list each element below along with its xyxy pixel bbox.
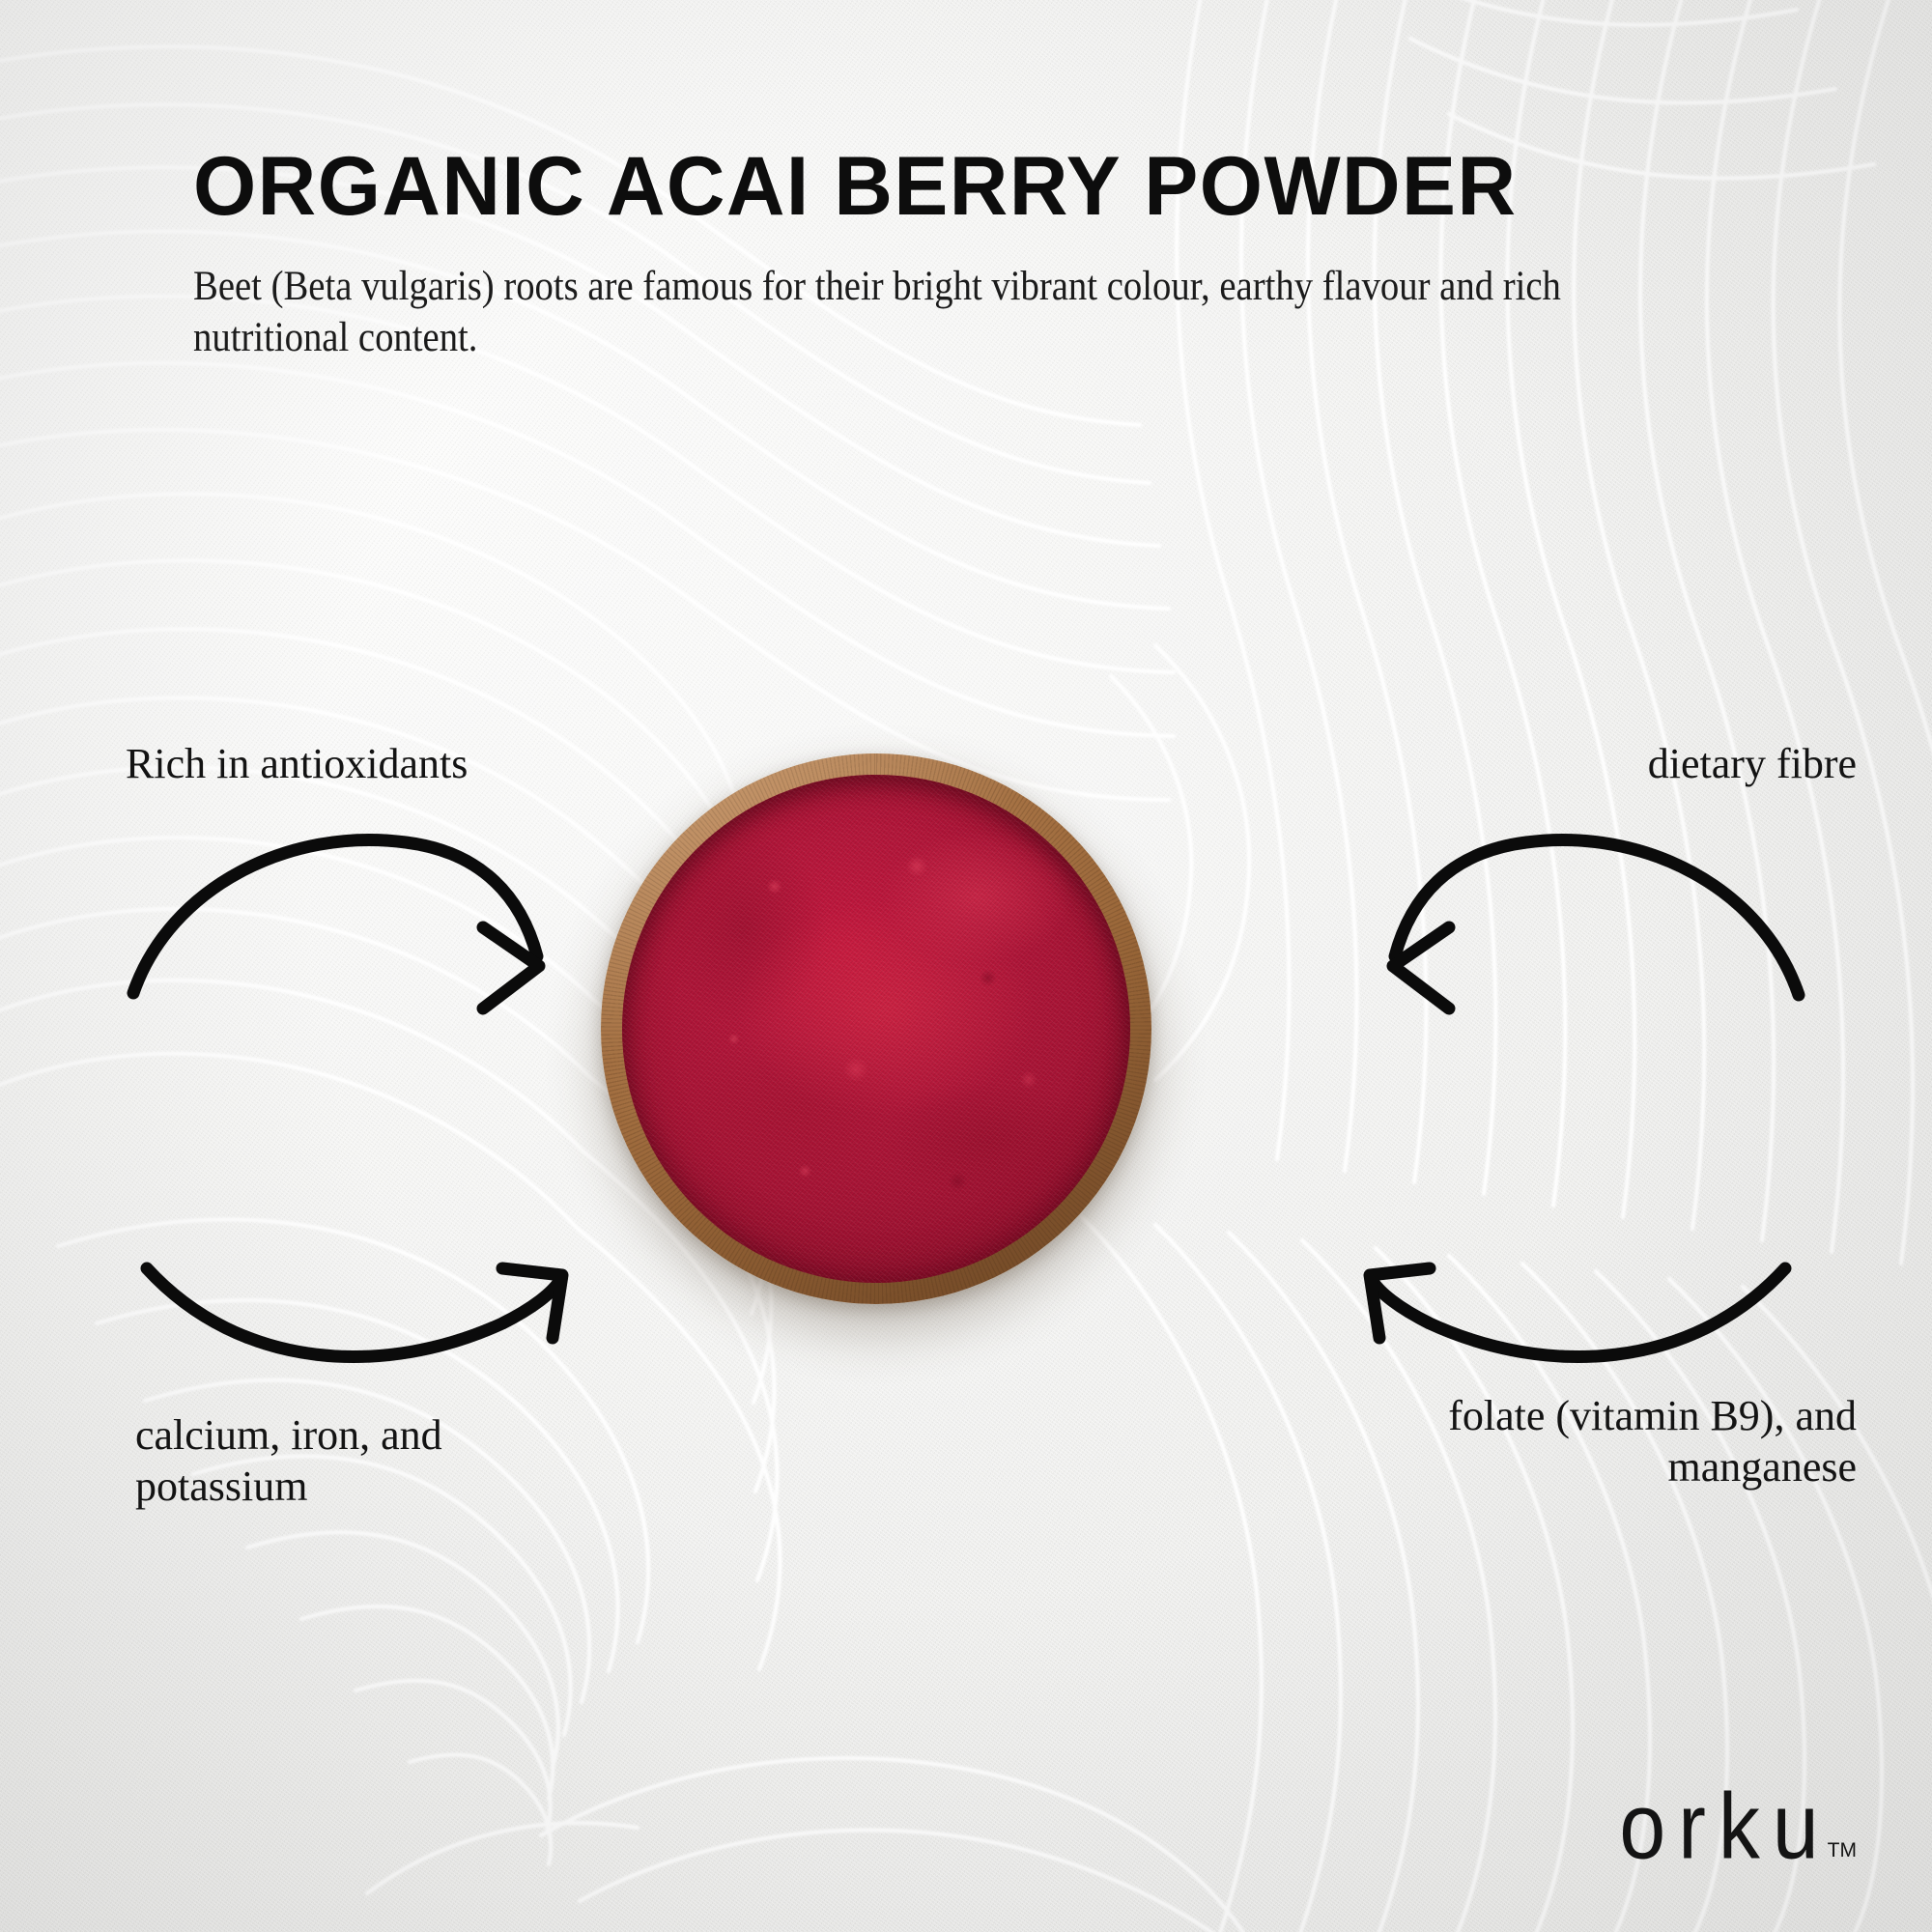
callout-label-top-left: Rich in antioxidants <box>126 739 468 790</box>
product-infographic: ORGANIC ACAI BERRY POWDER Beet (Beta vul… <box>0 0 1932 1932</box>
arrow-top-left <box>133 840 539 1009</box>
arrow-top-right <box>1393 840 1799 1009</box>
callout-label-bottom-right: folate (vitamin B9), and manganese <box>1448 1391 1857 1493</box>
callout-label-bottom-left: calcium, iron, and potassium <box>135 1410 442 1513</box>
brand-name: orku <box>1619 1784 1831 1872</box>
trademark-symbol: TM <box>1828 1839 1857 1862</box>
callout-arrows <box>0 0 1932 1932</box>
arrow-bottom-left <box>147 1268 562 1357</box>
brand-logo: orku TM <box>1619 1793 1857 1872</box>
callout-label-top-right: dietary fibre <box>1648 739 1857 790</box>
arrow-bottom-right <box>1370 1268 1785 1357</box>
